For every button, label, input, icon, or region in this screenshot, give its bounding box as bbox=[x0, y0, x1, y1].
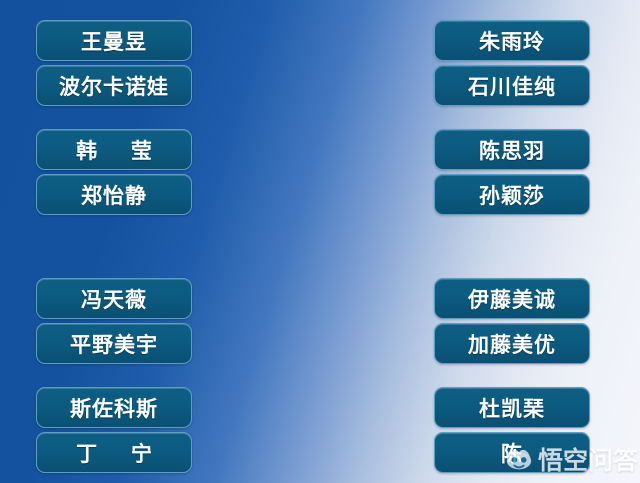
player-pill[interactable]: 波尔卡诺娃 bbox=[36, 65, 192, 106]
player-pill[interactable]: 冯天薇 bbox=[36, 278, 192, 319]
player-pill[interactable]: 陈 bbox=[434, 432, 590, 473]
player-pill[interactable]: 郑怡静 bbox=[36, 174, 192, 215]
bracket-top-left-column: 王曼昱 波尔卡诺娃 韩 莹 郑怡静 bbox=[36, 20, 192, 215]
player-pill[interactable]: 石川佳纯 bbox=[434, 65, 590, 106]
player-pill[interactable]: 王曼昱 bbox=[36, 20, 192, 61]
bracket-bottom-left-column: 冯天薇 平野美宇 斯佐科斯 丁 宁 bbox=[36, 278, 192, 473]
player-pill[interactable]: 朱雨玲 bbox=[434, 20, 590, 61]
player-pill[interactable]: 陈思羽 bbox=[434, 129, 590, 170]
player-pill[interactable]: 加藤美优 bbox=[434, 323, 590, 364]
bracket-bottom-right-column: 伊藤美诚 加藤美优 杜凯琹 陈 bbox=[434, 278, 590, 473]
bracket-canvas: 王曼昱 波尔卡诺娃 韩 莹 郑怡静 朱雨玲 石川佳纯 陈思羽 孙颖莎 冯天薇 平… bbox=[0, 0, 640, 483]
bracket-top-right-column: 朱雨玲 石川佳纯 陈思羽 孙颖莎 bbox=[434, 20, 590, 215]
player-pill[interactable]: 韩 莹 bbox=[36, 129, 192, 170]
player-pill[interactable]: 孙颖莎 bbox=[434, 174, 590, 215]
player-pill[interactable]: 斯佐科斯 bbox=[36, 387, 192, 428]
player-pill[interactable]: 伊藤美诚 bbox=[434, 278, 590, 319]
player-pill[interactable]: 杜凯琹 bbox=[434, 387, 590, 428]
player-pill[interactable]: 丁 宁 bbox=[36, 432, 192, 473]
player-pill[interactable]: 平野美宇 bbox=[36, 323, 192, 364]
